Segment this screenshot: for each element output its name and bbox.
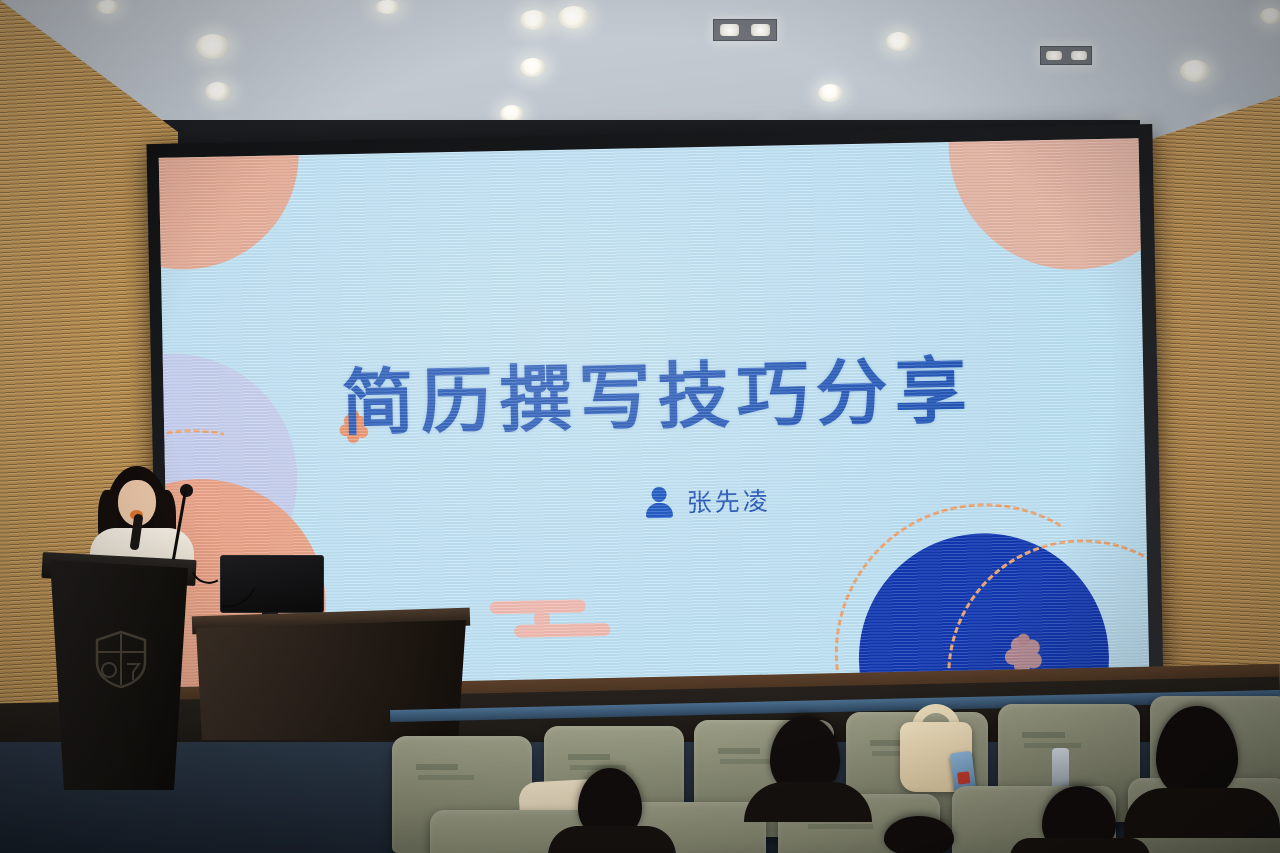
person-icon — [645, 486, 673, 518]
dotted-arc-top-right — [873, 138, 1149, 339]
downlight — [1180, 60, 1210, 82]
slide-title: 简历撰写技巧分享 — [341, 330, 1063, 449]
lecture-hall-scene: 简历撰写技巧分享 张先凌 — [0, 0, 1280, 853]
downlight — [886, 32, 912, 51]
audience-shoulders — [1010, 838, 1150, 853]
downlight — [520, 58, 546, 77]
slide-presenter-name: 张先凌 — [686, 482, 771, 520]
seat-logo-icon — [412, 764, 513, 799]
dotted-arc-top-left — [159, 138, 361, 304]
rect-ceiling-light — [713, 19, 777, 41]
slide-presenter-line: 张先凌 — [645, 482, 771, 521]
flower-icon-bottom-right — [1006, 622, 1041, 657]
water-bottle — [1052, 748, 1069, 790]
downlight — [558, 6, 590, 29]
downlight — [1260, 8, 1280, 24]
downlight — [375, 0, 401, 14]
downlight — [818, 84, 843, 102]
pink-ibar-decoration — [490, 599, 611, 637]
audience-shoulders — [548, 826, 676, 853]
university-crest-icon — [95, 630, 147, 688]
downlight — [196, 34, 230, 59]
rect-ceiling-light — [1040, 46, 1092, 65]
downlight — [520, 10, 548, 30]
downlight — [96, 0, 120, 14]
downlight — [205, 82, 231, 101]
audience-shoulders — [1124, 788, 1280, 838]
audience-shoulders — [744, 782, 872, 822]
av-desk — [196, 620, 466, 740]
